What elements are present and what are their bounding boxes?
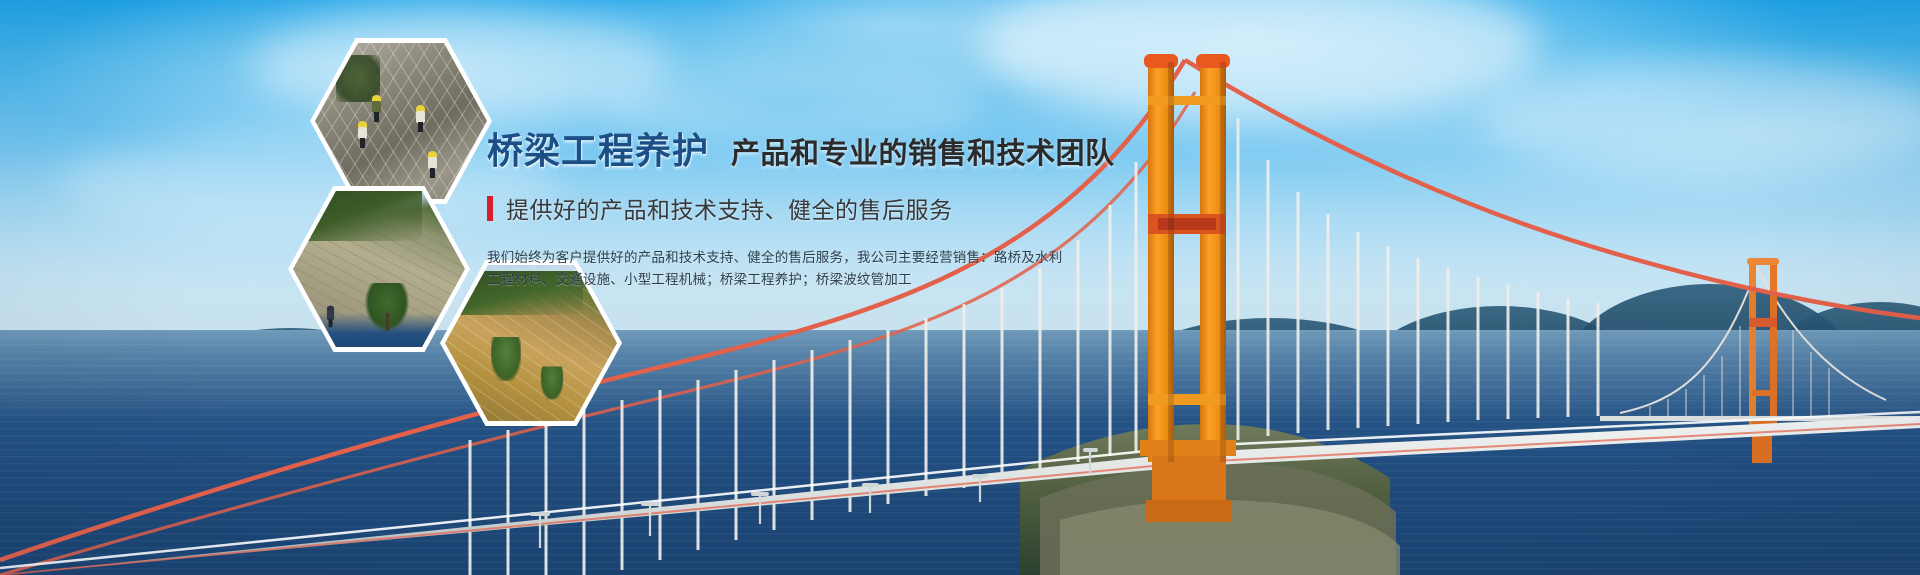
hex-photo-rock-slope-netting-workers[interactable] <box>310 38 492 204</box>
paragraph-line-1: 我们始终为客户提供好的产品和技术支持、健全的售后服务，我公司主要经营销售：路桥及… <box>487 247 1127 269</box>
headline-sub-text: 产品和专业的销售和技术团队 <box>731 130 1115 172</box>
banner-copy: 桥梁工程养护 产品和专业的销售和技术团队 提供好的产品和技术支持、健全的售后服务… <box>487 122 1127 291</box>
accent-bar <box>487 196 493 221</box>
headline-main-text: 桥梁工程养护 <box>487 122 709 174</box>
tree-shape <box>365 283 409 331</box>
worker-figure <box>326 306 335 327</box>
worker-figure <box>357 121 368 147</box>
hex-photo-vegetated-slope-netting[interactable] <box>288 186 470 352</box>
worker-figure <box>427 151 438 177</box>
paragraph-line-2: 工程材料、交通设施、小型工程机械；桥梁工程养护；桥梁波纹管加工 <box>487 269 1127 291</box>
subline-text: 提供好的产品和技术支持、健全的售后服务 <box>506 191 953 225</box>
hero-banner: 桥梁工程养护 产品和专业的销售和技术团队 提供好的产品和技术支持、健全的售后服务… <box>0 0 1920 575</box>
banner-headline: 桥梁工程养护 产品和专业的销售和技术团队 <box>487 122 1127 174</box>
bridge-tower-main <box>1140 54 1236 522</box>
worker-figure <box>415 105 426 131</box>
banner-paragraph: 我们始终为客户提供好的产品和技术支持、健全的售后服务，我公司主要经营销售：路桥及… <box>487 247 1127 291</box>
main-cable-right <box>1185 60 1920 318</box>
hanger-cables-right <box>1238 118 1598 440</box>
banner-subline: 提供好的产品和技术支持、健全的售后服务 <box>487 191 1127 225</box>
worker-figure <box>371 95 382 121</box>
photo-rock-slope-netting <box>315 43 487 199</box>
